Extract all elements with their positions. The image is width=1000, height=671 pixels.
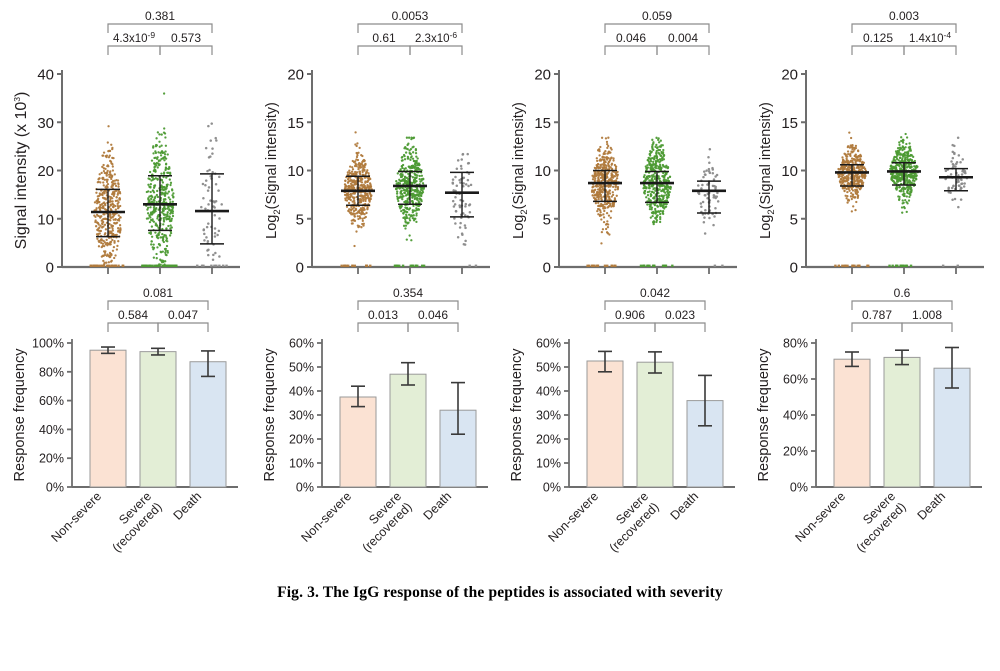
bar	[884, 357, 920, 487]
pvalue-bracket: 0.003	[852, 9, 956, 33]
data-point-cloud	[451, 153, 477, 267]
bar	[90, 350, 126, 487]
y-tick-label: 80%	[39, 365, 64, 379]
pvalue-label: 2.3x10-6	[415, 30, 457, 45]
y-tick-label: 40%	[536, 385, 561, 399]
scatter-panel-1: 010203040Signal intensity (x 103)4.3x10-…	[0, 0, 250, 287]
scatter-plot: 010203040Signal intensity (x 103)4.3x10-…	[0, 0, 250, 287]
data-point-cloud	[90, 125, 125, 267]
y-tick-label: 0	[46, 260, 54, 277]
pvalue-bracket: 4.3x10-9	[108, 30, 160, 55]
y-tick-label: 0%	[543, 481, 561, 495]
pvalue-bracket: 0.0053	[358, 9, 462, 33]
y-axis-title: Response frequency	[756, 348, 772, 482]
bar	[340, 397, 376, 487]
y-tick-label: 10	[781, 163, 798, 180]
pvalue-label: 0.081	[143, 287, 173, 300]
y-tick-label: 5	[790, 211, 798, 228]
pvalue-label: 0.381	[145, 9, 175, 23]
y-axis-title: Log2(Signal intensity)	[758, 102, 777, 239]
pvalue-label: 0.6	[894, 287, 911, 300]
y-tick-label: 50%	[536, 361, 561, 375]
bar-chart: 0%10%20%30%40%50%60%Response frequencyNo…	[497, 287, 747, 577]
y-tick-label: 40%	[39, 423, 64, 437]
y-tick-label: 5	[543, 211, 551, 228]
x-category-label: Severe(recovered)	[596, 489, 662, 555]
y-tick-label: 20	[37, 163, 54, 180]
pvalue-label: 0.906	[615, 308, 645, 322]
y-axis-title: Response frequency	[262, 348, 278, 482]
y-tick-label: 30%	[289, 409, 314, 423]
y-tick-label: 10	[534, 163, 551, 180]
bar	[140, 352, 176, 487]
pvalue-bracket: 0.6	[852, 287, 952, 310]
y-tick-label: 10%	[289, 457, 314, 471]
pvalue-bracket: 0.046	[605, 31, 657, 55]
bar-chart: 0%10%20%30%40%50%60%Response frequencyNo…	[250, 287, 500, 577]
pvalue-bracket: 0.354	[358, 287, 458, 310]
pvalue-label: 0.584	[118, 308, 148, 322]
pvalue-bracket: 0.023	[655, 308, 705, 332]
y-tick-label: 20%	[536, 433, 561, 447]
bar	[637, 362, 673, 487]
y-axis-title: Response frequency	[12, 348, 28, 482]
y-tick-label: 20	[781, 67, 798, 84]
bar	[390, 374, 426, 487]
y-tick-label: 20%	[289, 433, 314, 447]
y-tick-label: 80%	[783, 337, 808, 351]
pvalue-bracket: 0.61	[358, 31, 410, 55]
median-iqr-marker	[195, 174, 229, 244]
y-tick-label: 0%	[46, 481, 64, 495]
pvalue-label: 0.003	[889, 9, 919, 23]
pvalue-label: 0.046	[418, 308, 448, 322]
pvalue-bracket: 0.081	[108, 287, 208, 310]
pvalue-label: 0.047	[168, 308, 198, 322]
scatter-panel-4: 05101520Log2(Signal intensity)0.1251.4x1…	[744, 0, 994, 287]
y-axis-title: Response frequency	[509, 348, 525, 482]
y-tick-label: 30	[37, 115, 54, 132]
pvalue-label: 0.059	[642, 9, 672, 23]
y-tick-label: 5	[296, 211, 304, 228]
y-tick-label: 60%	[536, 337, 561, 351]
pvalue-label: 0.046	[616, 31, 646, 45]
x-category-label: Severe(recovered)	[99, 489, 165, 555]
y-tick-label: 15	[781, 115, 798, 132]
pvalue-label: 1.4x10-4	[909, 30, 951, 45]
pvalue-label: 0.573	[171, 31, 201, 45]
pvalue-label: 0.354	[393, 287, 423, 300]
figure-3: 010203040Signal intensity (x 103)4.3x10-…	[0, 0, 1000, 671]
x-category-label: Death	[421, 489, 455, 523]
bar-panel-4: 0%20%40%60%80%Response frequencyNon-seve…	[744, 287, 994, 577]
pvalue-bracket: 0.046	[408, 308, 458, 332]
y-tick-label: 100%	[32, 337, 64, 351]
pvalue-bracket: 0.906	[605, 308, 655, 332]
pvalue-bracket: 1.4x10-4	[904, 30, 956, 55]
y-tick-label: 20	[287, 67, 304, 84]
bar-panel-2: 0%10%20%30%40%50%60%Response frequencyNo…	[250, 287, 500, 577]
y-tick-label: 20%	[783, 445, 808, 459]
pvalue-label: 0.61	[372, 31, 396, 45]
data-point-cloud	[834, 131, 869, 267]
pvalue-label: 0.004	[668, 31, 698, 45]
bar-panel-1: 0%20%40%60%80%100%Response frequencyNon-…	[0, 287, 250, 577]
pvalue-bracket: 0.047	[158, 308, 208, 332]
pvalue-bracket: 0.573	[160, 31, 212, 55]
bar-panel-3: 0%10%20%30%40%50%60%Response frequencyNo…	[497, 287, 747, 577]
pvalue-bracket: 0.042	[605, 287, 705, 310]
y-tick-label: 0%	[296, 481, 314, 495]
pvalue-bracket: 2.3x10-6	[410, 30, 462, 55]
pvalue-label: 0.013	[368, 308, 398, 322]
pvalue-label: 4.3x10-9	[113, 30, 155, 45]
bar-chart: 0%20%40%60%80%100%Response frequencyNon-…	[0, 287, 250, 577]
y-tick-label: 0	[543, 260, 551, 277]
y-tick-label: 60%	[39, 394, 64, 408]
pvalue-bracket: 0.004	[657, 31, 709, 55]
y-tick-label: 0	[296, 260, 304, 277]
scatter-plot: 05101520Log2(Signal intensity)0.612.3x10…	[250, 0, 500, 287]
x-category-label: Non-severe	[546, 489, 602, 545]
pvalue-bracket: 1.008	[902, 308, 952, 332]
y-tick-label: 50%	[289, 361, 314, 375]
pvalue-bracket: 0.584	[108, 308, 158, 332]
y-tick-label: 10%	[536, 457, 561, 471]
scatter-plot: 05101520Log2(Signal intensity)0.0460.004…	[497, 0, 747, 287]
x-category-label: Death	[668, 489, 702, 523]
pvalue-bracket: 0.059	[605, 9, 709, 33]
scatter-panel-2: 05101520Log2(Signal intensity)0.612.3x10…	[250, 0, 500, 287]
bar	[190, 362, 226, 487]
x-category-label: Death	[171, 489, 205, 523]
y-tick-label: 40%	[783, 409, 808, 423]
y-tick-label: 0%	[790, 481, 808, 495]
x-category-label: Severe(recovered)	[349, 489, 415, 555]
data-point-cloud	[942, 136, 968, 267]
figure-caption: Fig. 3. The IgG response of the peptides…	[0, 584, 1000, 602]
pvalue-label: 0.042	[640, 287, 670, 300]
y-tick-label: 20%	[39, 452, 64, 466]
y-tick-label: 15	[287, 115, 304, 132]
y-tick-label: 0	[790, 260, 798, 277]
y-tick-label: 40	[37, 67, 54, 84]
x-category-label: Severe(recovered)	[843, 489, 909, 555]
data-point-cloud	[340, 131, 372, 267]
x-category-label: Non-severe	[49, 489, 105, 545]
y-tick-label: 15	[534, 115, 551, 132]
data-point-cloud	[697, 148, 724, 267]
pvalue-bracket: 0.381	[108, 9, 212, 33]
pvalue-bracket: 0.125	[852, 31, 904, 55]
bar	[587, 361, 623, 487]
pvalue-label: 1.008	[912, 308, 942, 322]
y-axis-title: Signal intensity (x 103)	[12, 92, 30, 250]
data-point-cloud	[888, 133, 919, 267]
y-tick-label: 30%	[536, 409, 561, 423]
scatter-plot: 05101520Log2(Signal intensity)0.1251.4x1…	[744, 0, 994, 287]
y-tick-label: 60%	[783, 373, 808, 387]
pvalue-bracket: 0.013	[358, 308, 408, 332]
pvalue-label: 0.0053	[392, 9, 429, 23]
y-tick-label: 10	[37, 211, 54, 228]
pvalue-bracket: 0.787	[852, 308, 902, 332]
y-tick-label: 10	[287, 163, 304, 180]
y-tick-label: 60%	[289, 337, 314, 351]
y-tick-label: 20	[534, 67, 551, 84]
pvalue-label: 0.023	[665, 308, 695, 322]
pvalue-label: 0.125	[863, 31, 893, 45]
bar	[834, 359, 870, 487]
x-category-label: Death	[915, 489, 949, 523]
bar-chart: 0%20%40%60%80%Response frequencyNon-seve…	[744, 287, 994, 577]
x-category-label: Non-severe	[299, 489, 355, 545]
y-tick-label: 40%	[289, 385, 314, 399]
median-iqr-marker	[939, 169, 973, 191]
x-category-label: Non-severe	[793, 489, 849, 545]
scatter-panel-3: 05101520Log2(Signal intensity)0.0460.004…	[497, 0, 747, 287]
pvalue-label: 0.787	[862, 308, 892, 322]
median-iqr-marker	[445, 172, 479, 216]
y-axis-title: Log2(Signal intensity)	[264, 102, 283, 239]
y-axis-title: Log2(Signal intensity)	[511, 102, 530, 239]
